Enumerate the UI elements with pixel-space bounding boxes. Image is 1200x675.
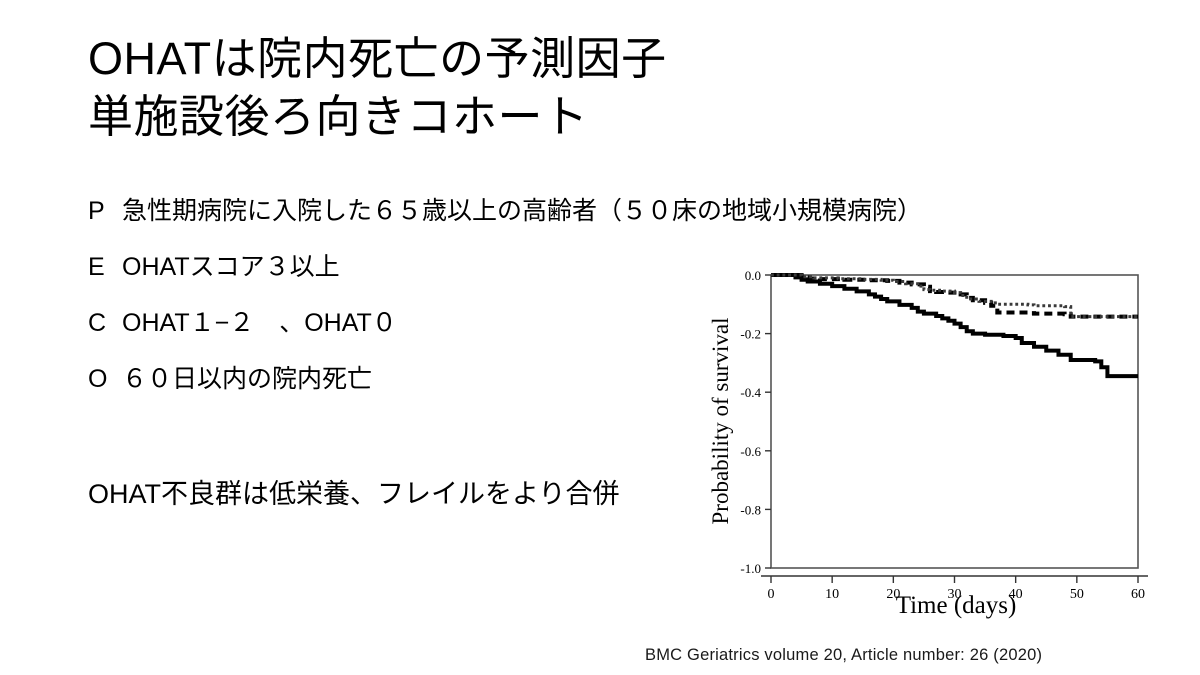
page-title: OHATは院内死亡の予測因子 単施設後ろ向きコホート (88, 30, 788, 145)
peco-key-c: C (88, 310, 122, 338)
survival-chart-svg: 0.0-0.2-0.4-0.6-0.8-1.0 0102030405060 Pr… (706, 258, 1154, 620)
x-tick-label: 60 (1131, 587, 1145, 602)
peco-text-p: 急性期病院に入院した６５歳以上の高齢者（５０床の地域小規模病院） (122, 198, 922, 226)
peco-text-c: OHAT１−２ 、OHAT０ (122, 310, 397, 338)
y-tick-label: 0.0 (745, 268, 761, 283)
y-axis-tick-labels: 0.0-0.2-0.4-0.6-0.8-1.0 (740, 268, 761, 576)
x-tick-label: 10 (825, 587, 839, 602)
conclusion-text: OHAT不良群は低栄養、フレイルをより合併 (88, 478, 619, 510)
peco-key-o: O (88, 366, 122, 394)
peco-row-p: P 急性期病院に入院した６５歳以上の高齢者（５０床の地域小規模病院） (88, 198, 1098, 254)
y-axis-ticks (765, 275, 771, 568)
y-tick-label: -0.4 (740, 385, 761, 400)
peco-text-o: ６０日以内の院内死亡 (122, 366, 372, 394)
title-line-1: OHATは院内死亡の予測因子 (88, 30, 788, 88)
citation-text: BMC Geriatrics volume 20, Article number… (645, 646, 1042, 665)
survival-chart: 0.0-0.2-0.4-0.6-0.8-1.0 0102030405060 Pr… (706, 258, 1154, 620)
y-tick-label: -0.6 (740, 444, 761, 459)
title-line-2: 単施設後ろ向きコホート (88, 88, 788, 146)
y-tick-label: -0.8 (740, 502, 761, 517)
x-tick-label: 0 (768, 587, 775, 602)
x-axis-title: Time (days) (896, 592, 1017, 619)
y-axis-title: Probability of survival (708, 318, 733, 525)
x-tick-label: 50 (1070, 587, 1084, 602)
y-tick-label: -0.2 (740, 327, 761, 342)
slide-canvas: OHATは院内死亡の予測因子 単施設後ろ向きコホート P 急性期病院に入院した６… (0, 0, 1200, 675)
peco-text-e: OHATスコア３以上 (122, 254, 340, 282)
peco-key-p: P (88, 198, 122, 226)
y-tick-label: -1.0 (740, 561, 761, 576)
x-axis-ticks (761, 576, 1148, 583)
peco-key-e: E (88, 254, 122, 282)
